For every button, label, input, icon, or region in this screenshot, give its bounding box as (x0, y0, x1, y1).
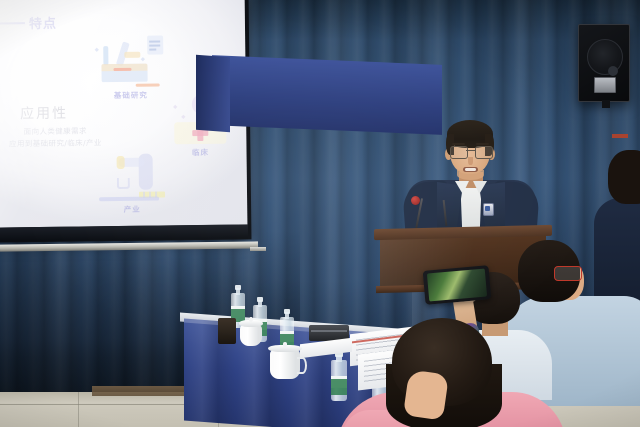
wall-loudspeaker (578, 24, 630, 102)
speaker-woofer-icon (587, 39, 623, 75)
microscope-stage-shape (124, 52, 140, 58)
lab-poster-line (149, 44, 160, 46)
bottle-label-green (331, 379, 347, 395)
cup-body (240, 325, 262, 346)
cup-lid-knob (249, 317, 253, 322)
glasses-lens-right (475, 146, 493, 159)
speaker-nose (468, 157, 473, 165)
audience-hand (403, 369, 449, 420)
lab-poster-line (149, 49, 156, 51)
sparkle-icon (95, 48, 99, 52)
speaker-teeth (465, 168, 476, 171)
slide-subtext-line-2: 应用到基础研究/临床/产业 (0, 137, 110, 150)
lab-floor-accent (136, 84, 160, 87)
glasses-bridge (466, 150, 475, 151)
robot-arm-industry-icon (93, 151, 172, 204)
slide-heading: 应用性 (20, 103, 68, 124)
slide-icon-label: 临床 (168, 147, 232, 159)
test-tube-shape (103, 46, 108, 65)
speaker-mount-bracket (602, 100, 610, 108)
red-eyeglasses-icon (554, 266, 582, 281)
cup-body (270, 350, 300, 379)
teacup-with-lid (240, 320, 262, 346)
smartphone-screen[interactable] (427, 269, 487, 302)
smartphone-recording[interactable] (423, 265, 492, 305)
lab-poster-line (149, 40, 160, 42)
sparkle-icon (182, 115, 186, 119)
eyeglasses-icon (450, 146, 491, 157)
slide-title-group: 特点 (0, 13, 57, 33)
device-strip (311, 330, 346, 332)
audience-head (608, 150, 640, 204)
factory-floor-line (99, 197, 159, 202)
speaker-badge-inner (485, 206, 490, 211)
robot-gripper (117, 178, 130, 189)
teacup-with-lid (270, 345, 300, 379)
curtain-rail-extension (250, 247, 266, 251)
speaker-dome (608, 66, 618, 76)
sparkle-icon (141, 57, 145, 61)
slide-title: 特点 (29, 13, 57, 32)
slide-icon-industry: 产业 (93, 151, 172, 215)
slide-icon-label: 产业 (93, 203, 171, 215)
glasses-lens-left (450, 146, 468, 159)
water-bottle (331, 355, 347, 401)
lab-bench-accent (113, 68, 131, 71)
slide-icon-label: 基础研究 (92, 89, 170, 101)
microphone-head-icon (411, 196, 420, 205)
floor-tile-seam (78, 392, 79, 427)
cup-handle (297, 357, 306, 375)
speaker-badge-stripe (612, 134, 628, 138)
table-front-skirt (212, 55, 442, 135)
speaker-brand-badge (594, 77, 616, 93)
conference-photo-scene: 特点 应用性 面向人类健康需求 应用到基础研究/临床/产业 (0, 0, 640, 427)
table-corner-skirt (196, 55, 230, 132)
slide-title-dash (0, 22, 25, 24)
laboratory-research-icon (91, 35, 170, 90)
dark-canister (218, 318, 236, 344)
bottle-body (331, 360, 347, 401)
speaker-eyebrow-left (452, 143, 465, 145)
robot-arm-head (117, 156, 125, 169)
speaker-eyebrow-right (476, 143, 489, 145)
cross-horizontal (192, 130, 208, 136)
sparkle-icon (173, 105, 177, 109)
slide-icon-basic-research: 基础研究 (91, 35, 170, 101)
slide-subtext: 面向人类健康需求 应用到基础研究/临床/产业 (0, 125, 110, 150)
